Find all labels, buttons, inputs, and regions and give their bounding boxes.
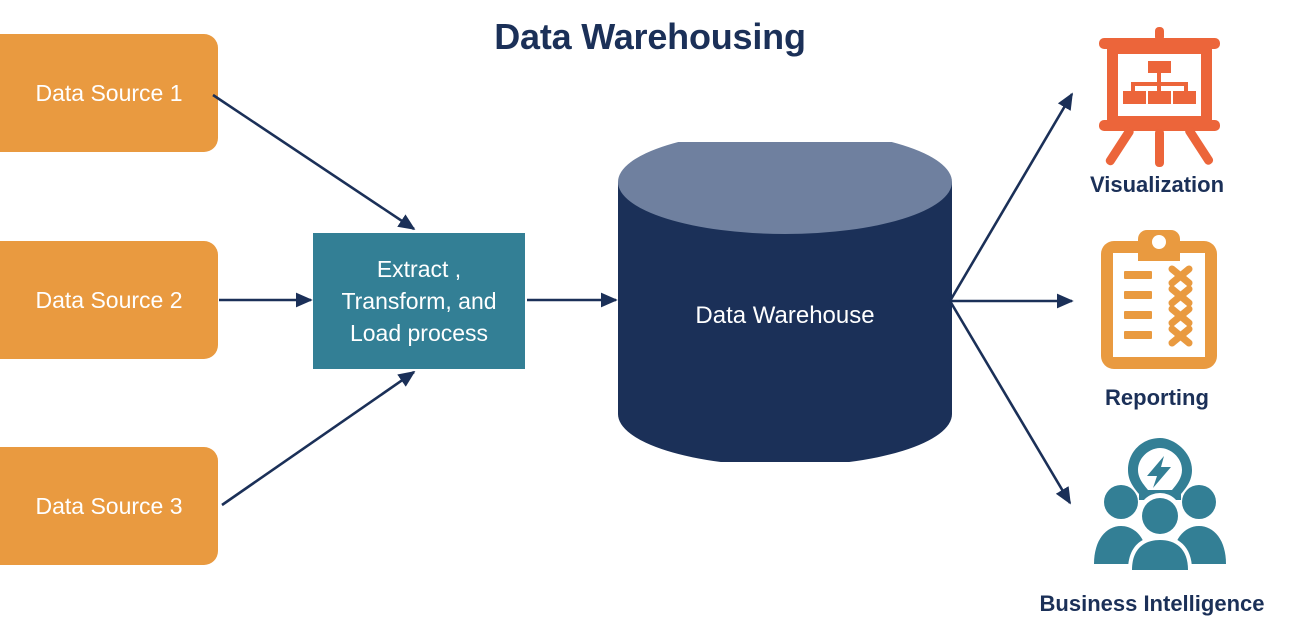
business-intelligence-label: Business Intelligence [1002,591,1302,617]
presentation-chart-icon [1087,25,1232,170]
clipboard-checklist-icon [1098,229,1220,372]
visualization-label: Visualization [1012,172,1302,198]
flow-arrow-source3-to-etl [222,372,414,505]
reporting-label: Reporting [1012,385,1302,411]
flow-arrow-source1-to-etl [213,95,414,229]
diagram-canvas: Data Warehousing Data Source 1 Data Sour… [0,0,1302,642]
lightbulb-people-icon [1092,436,1228,570]
